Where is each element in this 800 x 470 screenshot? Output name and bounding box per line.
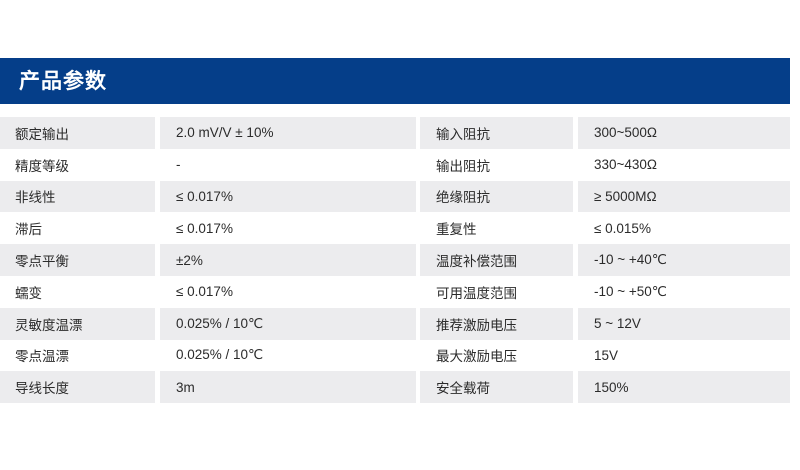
table-row: 额定输出2.0 mV/V ± 10%输入阻抗300~500Ω: [0, 117, 790, 149]
spec-label-right-text: 安全载荷: [436, 377, 490, 397]
spec-label-left: 蠕变: [0, 276, 155, 308]
spec-value-left: ±2%: [160, 244, 416, 276]
spec-value-left-text: 2.0 mV/V ± 10%: [176, 125, 273, 140]
spec-value-right: 300~500Ω: [578, 117, 790, 149]
spec-label-right: 最大激励电压: [420, 340, 573, 372]
spec-label-left: 非线性: [0, 181, 155, 213]
spec-label-left: 精度等级: [0, 149, 155, 181]
spec-value-right: -10 ~ +40℃: [578, 244, 790, 276]
page-title: 产品参数: [0, 71, 107, 92]
spec-value-left: 0.025% / 10℃: [160, 308, 416, 340]
spec-value-right-text: 330~430Ω: [594, 157, 657, 172]
spec-value-right-text: ≤ 0.015%: [594, 221, 651, 236]
spec-label-right: 绝缘阻抗: [420, 181, 573, 213]
spec-value-left: ≤ 0.017%: [160, 276, 416, 308]
spec-label-right-text: 输出阻抗: [436, 155, 490, 175]
spec-value-right-text: 15V: [594, 348, 618, 363]
spec-value-right-text: -10 ~ +50℃: [594, 284, 667, 300]
spec-value-left-text: ±2%: [176, 253, 203, 268]
table-row: 导线长度3m安全载荷150%: [0, 371, 790, 403]
spec-label-right: 输出阻抗: [420, 149, 573, 181]
spec-value-right: ≤ 0.015%: [578, 212, 790, 244]
spec-label-left-text: 精度等级: [15, 155, 69, 175]
spec-label-right-text: 推荐激励电压: [436, 314, 517, 334]
spec-label-left-text: 滞后: [15, 218, 42, 238]
spec-label-right: 可用温度范围: [420, 276, 573, 308]
spec-value-right-text: ≥ 5000MΩ: [594, 189, 657, 204]
table-row: 零点平衡±2%温度补偿范围-10 ~ +40℃: [0, 244, 790, 276]
spec-value-right-text: 150%: [594, 380, 629, 395]
spec-label-right-text: 温度补偿范围: [436, 250, 517, 270]
spec-label-right-text: 绝缘阻抗: [436, 186, 490, 206]
spec-value-right-text: 300~500Ω: [594, 125, 657, 140]
spec-value-left: -: [160, 149, 416, 181]
spec-label-left-text: 零点温漂: [15, 345, 69, 365]
spec-value-right-text: -10 ~ +40℃: [594, 252, 667, 268]
spec-value-right: ≥ 5000MΩ: [578, 181, 790, 213]
table-row: 滞后≤ 0.017%重复性≤ 0.015%: [0, 212, 790, 244]
spec-value-left-text: ≤ 0.017%: [176, 221, 233, 236]
spec-label-left: 零点平衡: [0, 244, 155, 276]
spec-value-left-text: -: [176, 157, 181, 172]
spec-value-right: 15V: [578, 340, 790, 372]
table-row: 非线性≤ 0.017%绝缘阻抗≥ 5000MΩ: [0, 181, 790, 213]
spec-label-left-text: 零点平衡: [15, 250, 69, 270]
spec-label-left: 灵敏度温漂: [0, 308, 155, 340]
table-row: 蠕变≤ 0.017%可用温度范围-10 ~ +50℃: [0, 276, 790, 308]
spec-value-right: -10 ~ +50℃: [578, 276, 790, 308]
spec-label-right: 安全载荷: [420, 371, 573, 403]
spec-label-right: 温度补偿范围: [420, 244, 573, 276]
spec-value-left: ≤ 0.017%: [160, 181, 416, 213]
spec-value-right: 5 ~ 12V: [578, 308, 790, 340]
section-header-bar: 产品参数: [0, 58, 790, 104]
spec-label-right-text: 可用温度范围: [436, 282, 517, 302]
spec-label-left-text: 非线性: [15, 186, 56, 206]
spec-label-right: 推荐激励电压: [420, 308, 573, 340]
spec-value-left: 3m: [160, 371, 416, 403]
spec-label-right: 输入阻抗: [420, 117, 573, 149]
spec-value-right: 330~430Ω: [578, 149, 790, 181]
spec-label-left: 导线长度: [0, 371, 155, 403]
spec-label-left: 额定输出: [0, 117, 155, 149]
spec-value-left-text: 0.025% / 10℃: [176, 347, 263, 363]
spec-value-left: ≤ 0.017%: [160, 212, 416, 244]
spec-label-left: 零点温漂: [0, 340, 155, 372]
spec-value-left: 0.025% / 10℃: [160, 340, 416, 372]
table-row: 精度等级-输出阻抗330~430Ω: [0, 149, 790, 181]
table-row: 灵敏度温漂0.025% / 10℃推荐激励电压5 ~ 12V: [0, 308, 790, 340]
spec-value-left-text: ≤ 0.017%: [176, 189, 233, 204]
spec-label-left-text: 灵敏度温漂: [15, 314, 83, 334]
spec-label-right: 重复性: [420, 212, 573, 244]
specification-table: 额定输出2.0 mV/V ± 10%输入阻抗300~500Ω精度等级-输出阻抗3…: [0, 117, 790, 403]
table-row: 零点温漂0.025% / 10℃最大激励电压15V: [0, 340, 790, 372]
spec-label-right-text: 输入阻抗: [436, 123, 490, 143]
product-parameters-page: 产品参数 额定输出2.0 mV/V ± 10%输入阻抗300~500Ω精度等级-…: [0, 0, 800, 470]
spec-label-left-text: 蠕变: [15, 282, 42, 302]
spec-value-left-text: 3m: [176, 380, 195, 395]
spec-value-left-text: ≤ 0.017%: [176, 284, 233, 299]
spec-label-right-text: 重复性: [436, 218, 477, 238]
spec-label-right-text: 最大激励电压: [436, 345, 517, 365]
spec-label-left: 滞后: [0, 212, 155, 244]
spec-value-left: 2.0 mV/V ± 10%: [160, 117, 416, 149]
spec-value-right: 150%: [578, 371, 790, 403]
spec-value-left-text: 0.025% / 10℃: [176, 316, 263, 332]
spec-label-left-text: 导线长度: [15, 377, 69, 397]
spec-value-right-text: 5 ~ 12V: [594, 316, 641, 331]
spec-label-left-text: 额定输出: [15, 123, 69, 143]
